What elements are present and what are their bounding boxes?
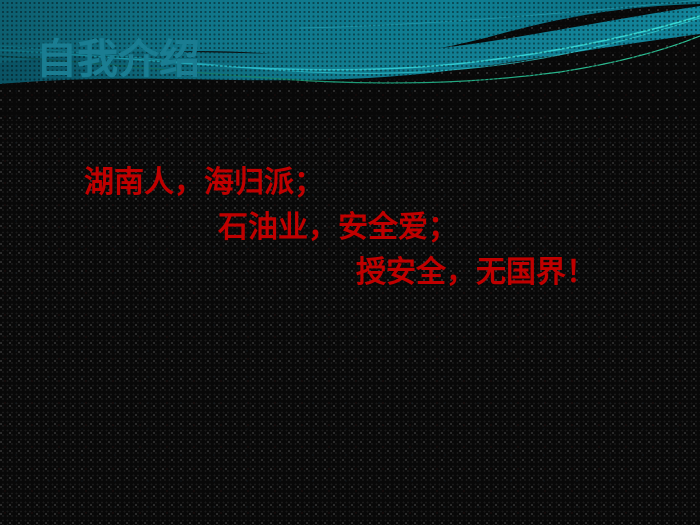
presentation-slide: 自我介绍 湖南人，海归派； 石油业，安全爱； 授安全，无国界！ bbox=[0, 0, 700, 525]
page-title: 自我介绍 bbox=[36, 36, 200, 82]
body-text-block: 湖南人，海归派； 石油业，安全爱； 授安全，无国界！ bbox=[0, 160, 700, 295]
body-line-2: 石油业，安全爱； bbox=[218, 205, 700, 250]
body-line-1: 湖南人，海归派； bbox=[84, 160, 700, 205]
body-line-3: 授安全，无国界！ bbox=[356, 250, 700, 295]
